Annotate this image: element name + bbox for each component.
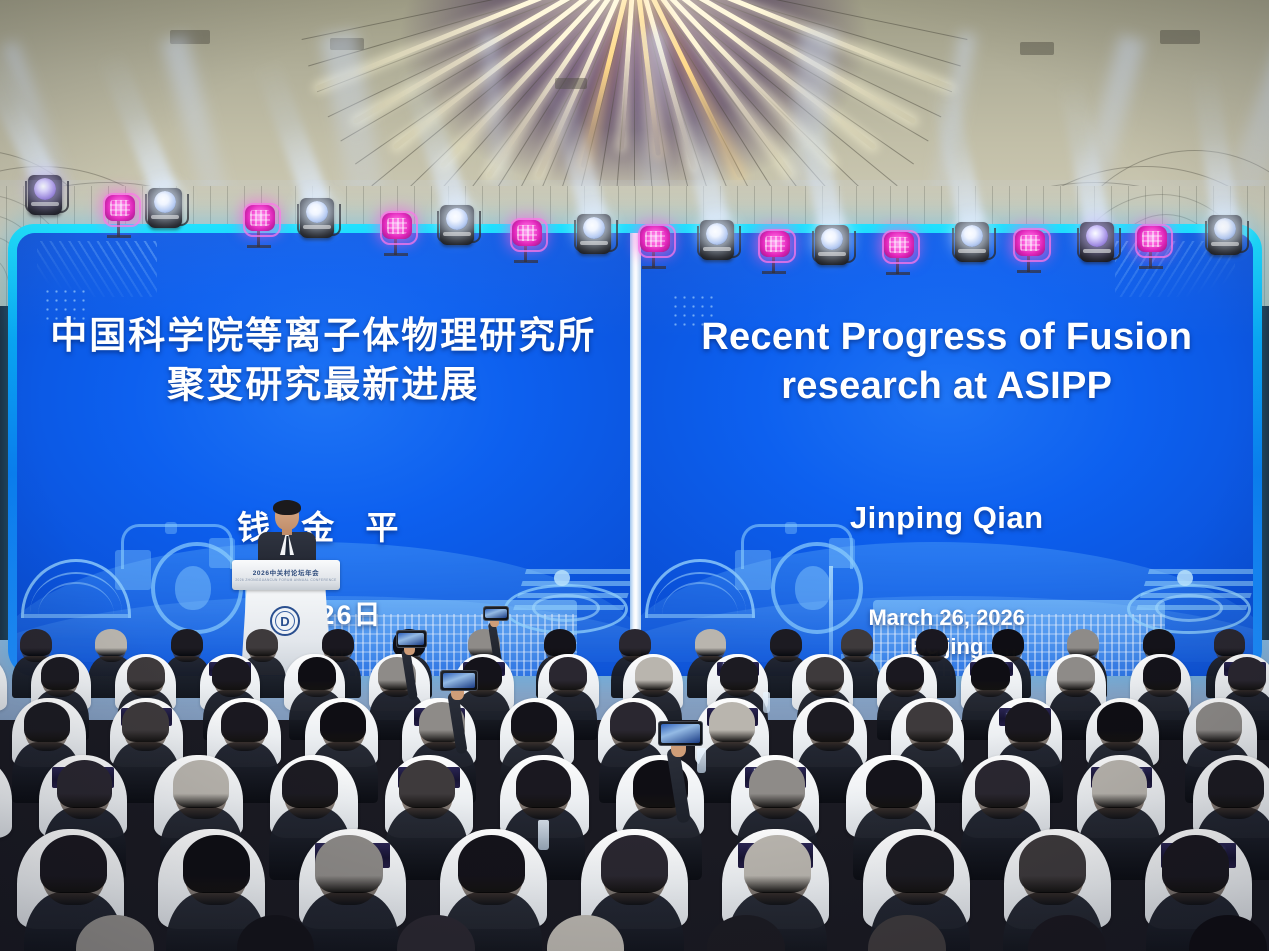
audience-member	[1192, 919, 1264, 951]
slide-title-english: Recent Progress of Fusion research at AS…	[641, 313, 1254, 412]
audience-hair	[709, 702, 755, 742]
audience-hair	[866, 760, 922, 808]
spotlight-band	[1083, 249, 1111, 253]
audience-hair	[1196, 702, 1242, 742]
audience-hair	[24, 702, 70, 742]
par-foot	[642, 266, 666, 269]
audience-hair	[610, 702, 656, 742]
audience-hair	[547, 915, 625, 951]
water-bottle	[763, 692, 770, 713]
water-bottle	[697, 748, 706, 773]
audience-hair	[320, 702, 366, 742]
spotlight-beam	[1058, 76, 1110, 228]
par-foot	[762, 271, 786, 274]
phone-screen	[485, 609, 506, 618]
audience-hair	[76, 915, 154, 951]
audience-member	[239, 919, 311, 951]
audience-hair	[868, 915, 946, 951]
spotlight-beam	[543, 70, 607, 222]
par-grid-icon	[517, 225, 537, 241]
audience-hair	[1028, 915, 1106, 951]
slide-speaker-chinese: 钱 金 平	[17, 501, 630, 549]
audience-member	[870, 919, 942, 951]
audience-hair	[397, 915, 475, 951]
audience-member	[549, 919, 621, 951]
phone-screen	[443, 673, 475, 688]
spotlight-beam	[668, 75, 730, 227]
par-grid-icon	[1020, 235, 1040, 251]
spotlight-lens-icon	[34, 178, 56, 200]
par-grid-icon	[889, 237, 909, 253]
audience-member	[79, 919, 151, 951]
audience-hair	[975, 760, 1031, 808]
audience-hair	[749, 760, 805, 808]
spotlight-beam	[1191, 69, 1238, 221]
audience-member	[710, 919, 782, 951]
slide-speaker-english: Jinping Qian	[641, 500, 1254, 536]
spotlight-band	[1211, 242, 1239, 246]
stage-lighting-rig	[0, 0, 1269, 280]
spotlight-band	[443, 232, 471, 236]
par-grid-icon	[110, 200, 130, 216]
audience-hair	[399, 760, 455, 808]
audience-hair	[807, 702, 853, 742]
podium-plaque: 2026中关村论坛年会 2026 ZHONGGUANCUN FORUM ANNU…	[243, 566, 329, 583]
par-foot	[247, 245, 271, 248]
audience-hair	[237, 915, 315, 951]
par-grid-icon	[250, 210, 270, 226]
audience-hair	[1097, 702, 1143, 742]
spotlight-lens-icon	[706, 223, 728, 245]
spotlight-beam	[788, 80, 845, 232]
par-foot	[107, 235, 131, 238]
par-grid-icon	[645, 231, 665, 247]
spotlight-band	[818, 252, 846, 256]
spotlight-beam	[97, 48, 177, 197]
led-video-wall: 中国科学院等离子体物理研究所 聚变研究最新进展 钱 金 平 3月 26日	[8, 224, 1262, 676]
audience-hair	[1005, 702, 1051, 742]
par-foot	[886, 272, 910, 275]
audience-hair	[57, 760, 113, 808]
podium-plaque-cn: 2026中关村论坛年会	[253, 567, 320, 577]
par-foot	[1139, 266, 1163, 269]
spotlight-lens-icon	[446, 208, 468, 230]
spotlight-lens-icon	[583, 217, 605, 239]
smartphone[interactable]	[396, 630, 427, 648]
audience-hair	[1208, 760, 1264, 808]
audience-row	[0, 884, 1269, 951]
spotlight-beam	[253, 57, 329, 207]
smartphone[interactable]	[483, 606, 509, 621]
par-grid-icon	[387, 218, 407, 234]
par-foot	[384, 253, 408, 256]
audience: 合肥科聚HEFEI KEJU洪智勇HONG ZHIYONG合肥HEFEI江苏隆达…	[0, 612, 1269, 951]
spotlight-beam	[0, 38, 57, 184]
smartphone[interactable]	[440, 670, 477, 691]
spotlight-lens-icon	[306, 201, 328, 223]
audience-hair	[1189, 915, 1267, 951]
phone-screen	[661, 724, 700, 743]
spotlight-lens-icon	[821, 228, 843, 250]
audience-hair	[282, 760, 338, 808]
screen-divider	[630, 233, 641, 676]
spotlight-lens-icon	[154, 191, 176, 213]
audience-hair	[221, 702, 267, 742]
audience-hair	[707, 915, 785, 951]
spotlight-band	[703, 247, 731, 251]
spotlight-beam	[398, 62, 469, 213]
par-grid-icon	[765, 236, 785, 252]
par-grid-icon	[1142, 231, 1162, 247]
spotlight-lens-icon	[1214, 218, 1236, 240]
spotlight-band	[958, 249, 986, 253]
spotlight-band	[31, 202, 59, 206]
slide-title-chinese: 中国科学院等离子体物理研究所 聚变研究最新进展	[17, 311, 630, 409]
par-foot	[1017, 270, 1041, 273]
audience-hair	[1092, 760, 1148, 808]
audience-hair	[906, 702, 952, 742]
audience-hair	[516, 760, 572, 808]
conference-hall-photo: 中国科学院等离子体物理研究所 聚变研究最新进展 钱 金 平 3月 26日	[0, 0, 1269, 951]
slide-panel-english: Recent Progress of Fusion research at AS…	[641, 233, 1254, 676]
water-bottle	[538, 820, 548, 850]
spotlight-band	[303, 225, 331, 229]
spotlight-beam	[928, 77, 985, 229]
phone-screen	[398, 633, 424, 645]
spotlight-lens-icon	[1086, 225, 1108, 247]
audience-hair	[511, 702, 557, 742]
spotlight-band	[151, 215, 179, 219]
spotlight-lens-icon	[961, 225, 983, 247]
par-foot	[514, 260, 538, 263]
audience-member	[400, 919, 472, 951]
podium-plaque-en: 2026 ZHONGGUANCUN FORUM ANNUAL CONFERENC…	[235, 578, 336, 582]
smartphone[interactable]	[658, 721, 702, 746]
audience-hair	[173, 760, 229, 808]
audience-hair	[122, 702, 168, 742]
spotlight-band	[580, 241, 608, 245]
speaker-person	[258, 502, 316, 564]
audience-member	[1031, 919, 1103, 951]
